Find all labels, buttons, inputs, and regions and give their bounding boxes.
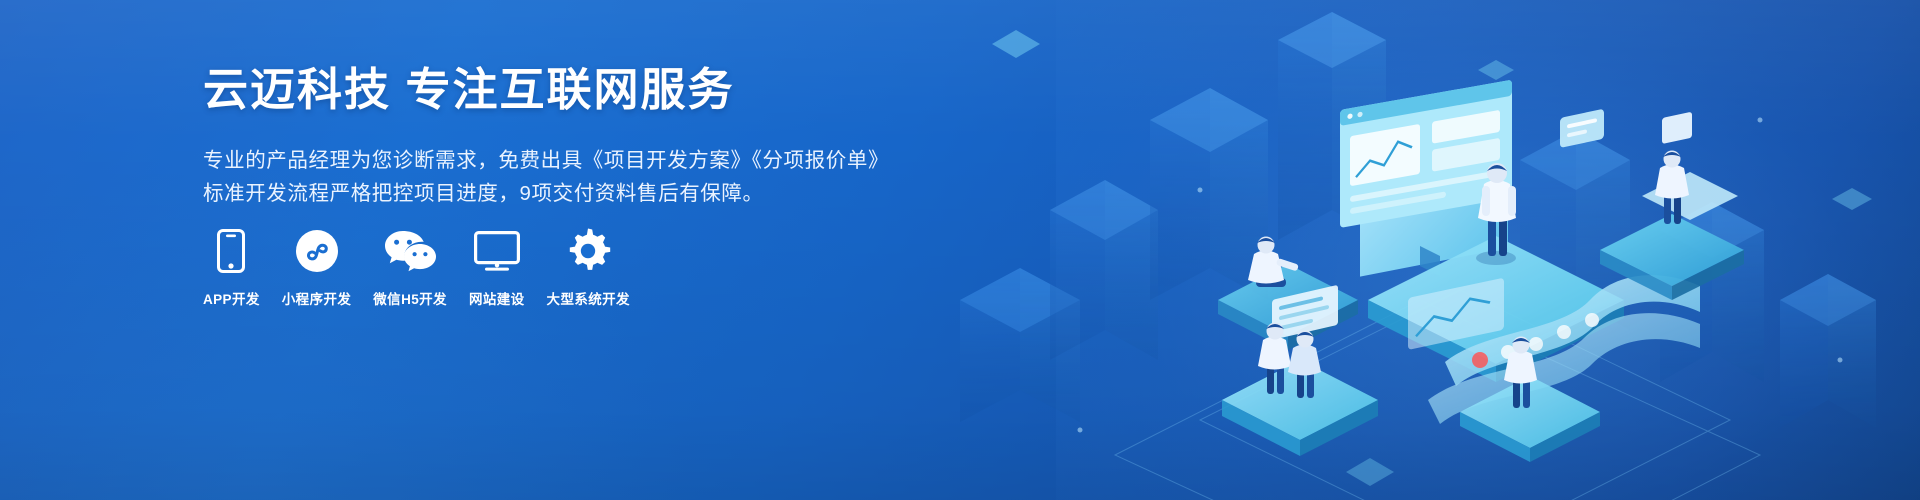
service-label: APP开发 <box>203 288 260 308</box>
subtitle-line-2: 标准开发流程严格把控项目进度，9项交付资料售后有保障。 <box>203 177 923 210</box>
service-item-website[interactable]: 网站建设 <box>469 228 525 308</box>
subtitle-line-1: 专业的产品经理为您诊断需求，免费出具《项目开发方案》《分项报价单》 <box>203 144 923 177</box>
gear-icon <box>565 228 611 274</box>
hero-banner: 云迈科技 专注互联网服务 专业的产品经理为您诊断需求，免费出具《项目开发方案》《… <box>0 0 1920 500</box>
service-label: 网站建设 <box>469 288 525 308</box>
subtitle-block: 专业的产品经理为您诊断需求，免费出具《项目开发方案》《分项报价单》 标准开发流程… <box>203 144 923 210</box>
service-list: APP开发 小程序开发 <box>203 228 630 308</box>
mobile-phone-icon <box>217 228 245 274</box>
service-label: 大型系统开发 <box>547 288 630 308</box>
wechat-icon <box>384 228 436 274</box>
service-item-large-system[interactable]: 大型系统开发 <box>547 228 630 308</box>
service-item-wechat-h5[interactable]: 微信H5开发 <box>373 228 447 308</box>
mini-program-icon <box>295 228 339 274</box>
service-item-mini-program[interactable]: 小程序开发 <box>282 228 352 308</box>
service-item-app[interactable]: APP开发 <box>203 228 260 308</box>
isometric-illustration <box>900 0 1920 500</box>
service-label: 微信H5开发 <box>373 288 447 308</box>
page-title: 云迈科技 专注互联网服务 <box>203 62 923 118</box>
monitor-icon <box>474 228 520 274</box>
service-label: 小程序开发 <box>282 288 352 308</box>
banner-content: 云迈科技 专注互联网服务 专业的产品经理为您诊断需求，免费出具《项目开发方案》《… <box>203 62 923 210</box>
